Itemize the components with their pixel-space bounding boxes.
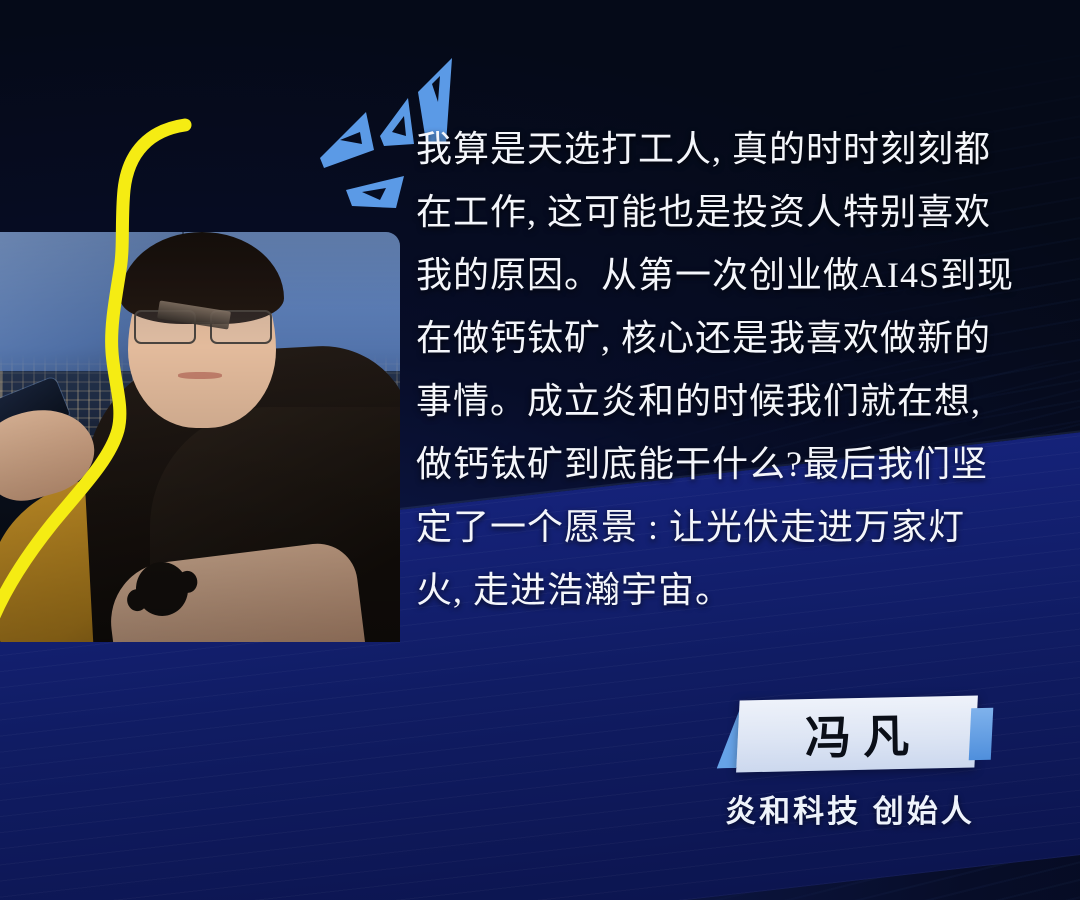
quote-line: 我的原因。从第一次创业做AI4S到现: [416, 244, 1006, 307]
speaker-title: 炎和科技 创始人: [700, 786, 1000, 831]
speaker-name: 冯凡: [737, 696, 976, 772]
portrait-scene: [0, 232, 400, 642]
quote-line: 定了一个愿景 : 让光伏走进万家灯: [416, 496, 1006, 559]
quote-line: 我算是天选打工人, 真的时时刻刻都: [416, 118, 1006, 181]
quote-line: 在做钙钛矿, 核心还是我喜欢做新的: [416, 307, 1006, 370]
quote-line: 在工作, 这可能也是投资人特别喜欢: [416, 181, 1006, 244]
portrait-photo: [0, 232, 400, 642]
name-plate: 冯凡: [738, 698, 976, 770]
quote-line: 做钙钛矿到底能干什么?最后我们坚: [416, 433, 1006, 496]
quote-line: 火, 走进浩瀚宇宙。: [416, 559, 1006, 622]
photo-vignette: [0, 232, 400, 642]
quote-card: 我算是天选打工人, 真的时时刻刻都 在工作, 这可能也是投资人特别喜欢 我的原因…: [0, 0, 1080, 900]
quote-line: 事情。成立炎和的时候我们就在想,: [416, 370, 1006, 433]
quote-text: 我算是天选打工人, 真的时时刻刻都 在工作, 这可能也是投资人特别喜欢 我的原因…: [416, 118, 1006, 622]
